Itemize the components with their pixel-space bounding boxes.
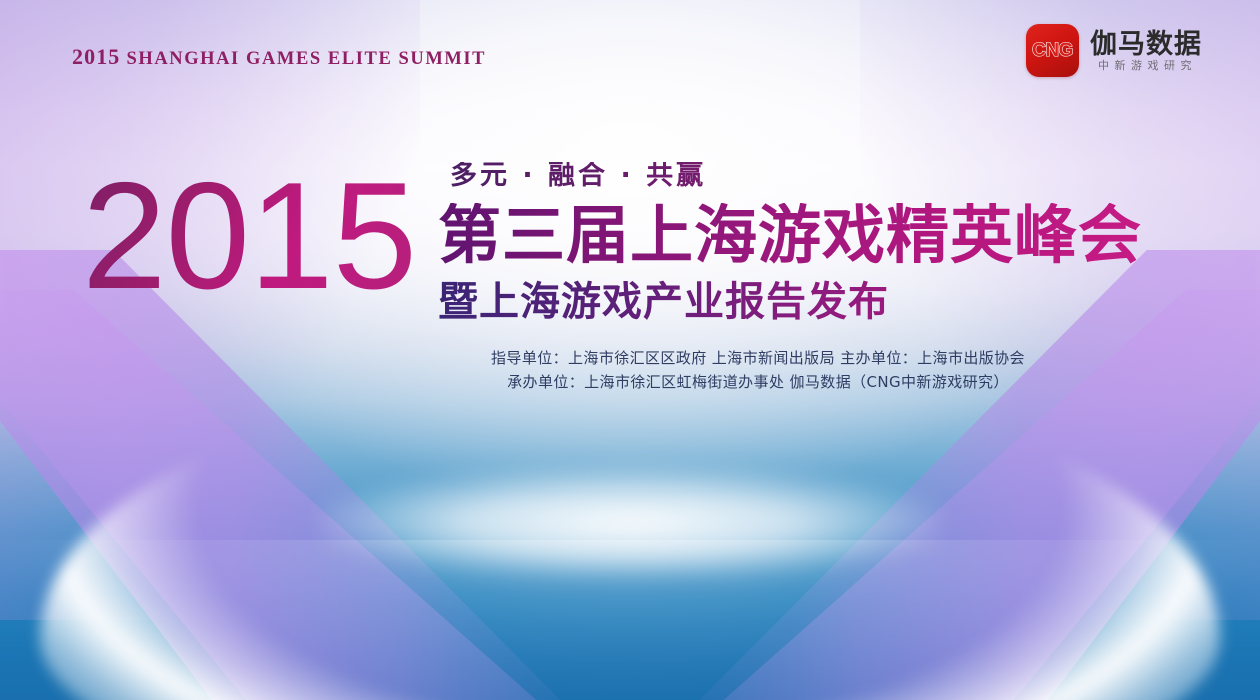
year-display: 2015	[82, 160, 416, 312]
brand-logo[interactable]: CNG 伽马数据 中新游戏研究	[1026, 24, 1202, 77]
event-headline: 第三届上海游戏精英峰会	[438, 203, 1142, 270]
kicker-words: SHANGHAI GAMES ELITE SUMMIT	[127, 49, 487, 69]
credit-line: 指导单位：上海市徐汇区区政府 上海市新闻出版局 主办单位：上海市出版协会	[438, 346, 1078, 370]
event-subheadline: 暨上海游戏产业报告发布	[438, 280, 1142, 324]
event-poster: 2015 SHANGHAI GAMES ELITE SUMMIT CNG 伽马数…	[0, 0, 1260, 700]
cng-logo-icon: CNG	[1026, 24, 1079, 77]
poster-content: 2015 SHANGHAI GAMES ELITE SUMMIT CNG 伽马数…	[0, 0, 1260, 700]
title-block: 多元 · 融合 · 共赢 第三届上海游戏精英峰会 暨上海游戏产业报告发布	[438, 162, 1142, 324]
kicker-line: 2015 SHANGHAI GAMES ELITE SUMMIT	[72, 44, 486, 70]
event-tagline: 多元 · 融合 · 共赢	[438, 162, 1142, 189]
brand-subtitle: 中新游戏研究	[1090, 60, 1202, 71]
brand-wordmark: 伽马数据 中新游戏研究	[1090, 31, 1202, 71]
kicker-year: 2015	[72, 44, 120, 69]
brand-name: 伽马数据	[1090, 31, 1202, 58]
organizer-credits: 指导单位：上海市徐汇区区政府 上海市新闻出版局 主办单位：上海市出版协会 承办单…	[438, 346, 1078, 395]
cng-logo-text: CNG	[1032, 40, 1073, 62]
credit-line: 承办单位：上海市徐汇区虹梅街道办事处 伽马数据（CNG中新游戏研究）	[438, 370, 1078, 394]
